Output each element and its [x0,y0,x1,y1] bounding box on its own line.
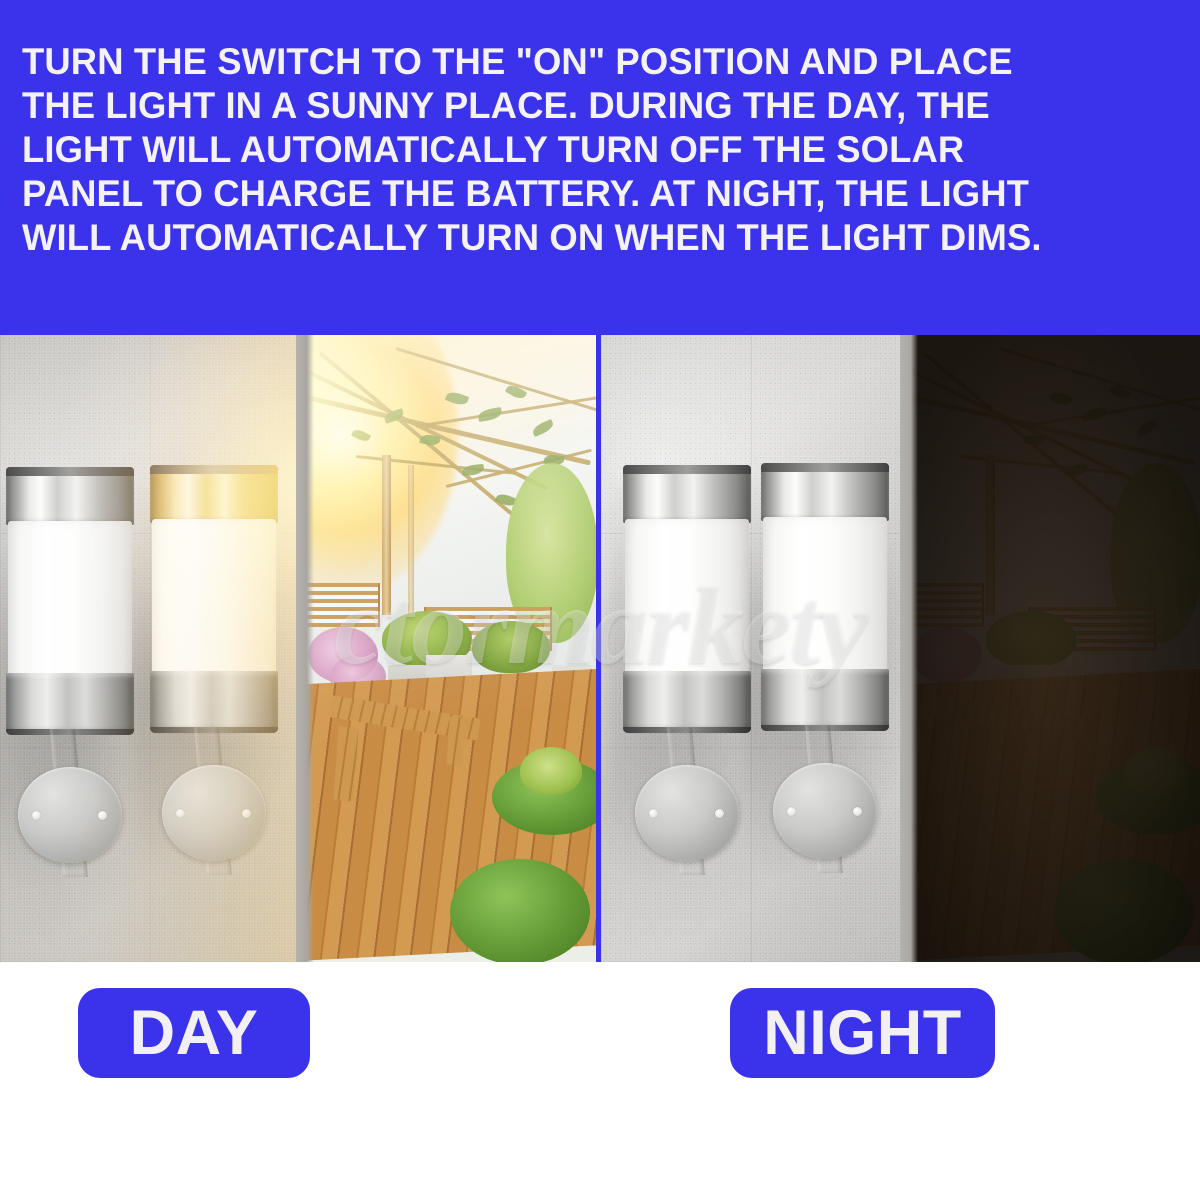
lamp-top-cap [6,467,134,525]
night-half [601,335,1200,962]
lamp-base-ring [6,673,134,735]
lamp-diffuser [152,519,276,679]
grass-patch [450,859,590,962]
day-lamp-photo [0,335,296,962]
day-badge-label: DAY [130,1002,259,1065]
night-garden-photo [900,335,1200,962]
photo-left-edge [296,335,314,962]
day-half [0,335,596,962]
lamp-base-ring [150,671,278,733]
lamp-screw-right [98,811,107,820]
instruction-line-3: LIGHT WILL AUTOMATICALLY TURN OFF THE SO… [22,128,1174,172]
night-badge: NIGHT [730,988,995,1078]
pergola-post [408,465,414,615]
pergola-post [986,455,995,615]
lamp-screw-left [176,809,185,818]
lamp-diffuser [763,517,887,677]
lamp-screw-right [715,809,724,818]
flower-bed [912,627,982,683]
instruction-line-1: TURN THE SWITCH TO THE "ON" POSITION AND… [22,40,1174,84]
hedge [986,611,1076,667]
lamp-base-ring [761,669,889,731]
comparison-photo-band: ctormarkety [0,335,1200,962]
bench-leg [446,717,465,766]
lamp-screw-left [32,811,41,820]
rooftop-garden-scene [296,335,596,962]
day-badge: DAY [78,988,310,1078]
night-lamp-photo [601,335,900,962]
instruction-line-4: PANEL TO CHARGE THE BATTERY. AT NIGHT, T… [22,172,1174,216]
lamp-screw-right [853,807,862,816]
wooden-fence [908,583,984,627]
lamp-top-cap [623,465,751,523]
lamp-screw-right [242,809,251,818]
lamp-base-ring [623,671,751,733]
day-garden-photo [296,335,596,962]
pergola-post [382,455,391,615]
succulent [520,747,582,795]
instruction-line-5: WILL AUTOMATICALLY TURN ON WHEN THE LIGH… [22,216,1174,260]
product-infographic: TURN THE SWITCH TO THE "ON" POSITION AND… [0,0,1200,1200]
rooftop-garden-scene-night [900,335,1200,962]
instruction-line-2: THE LIGHT IN A SUNNY PLACE. DURING THE D… [22,84,1174,128]
succulent [1124,747,1186,795]
lamp-top-cap [150,465,278,523]
hedge [472,621,550,673]
grass-patch [1054,859,1194,962]
lamp-screw-left [649,809,658,818]
lamp-top-cap [761,463,889,521]
photo-left-edge [900,335,918,962]
night-badge-label: NIGHT [763,1002,961,1065]
lamp-screw-left [787,807,796,816]
wooden-fence [304,583,380,627]
instruction-banner: TURN THE SWITCH TO THE "ON" POSITION AND… [0,0,1200,335]
lamp-diffuser [625,519,749,679]
lamp-diffuser [8,521,132,681]
